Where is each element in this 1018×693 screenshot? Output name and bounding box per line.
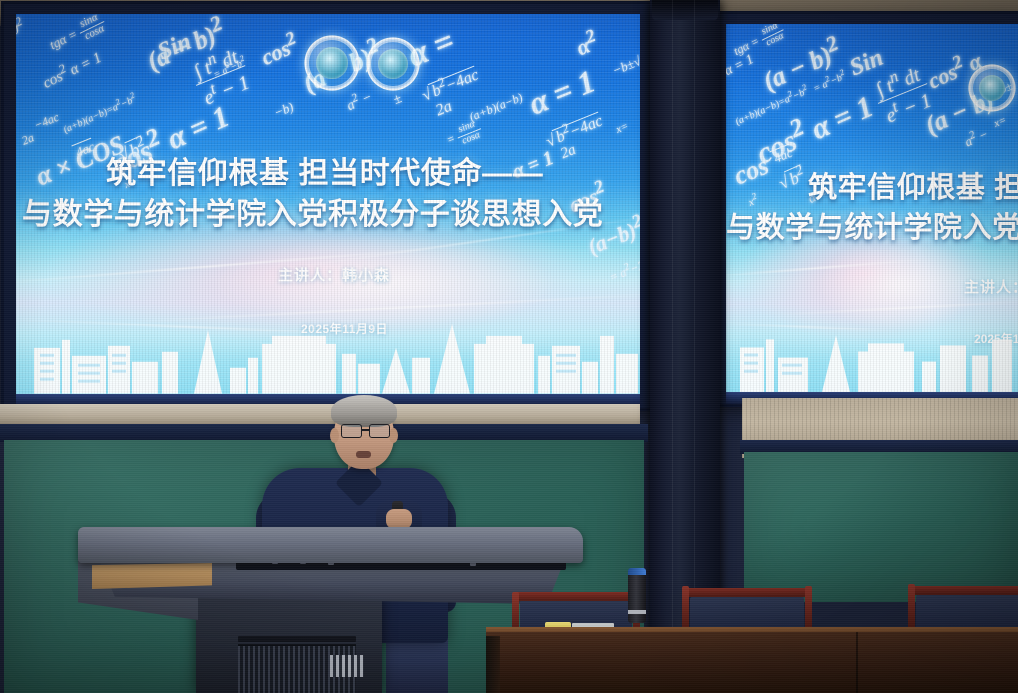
projection-screen-left[interactable]: 02 tgα = sinαcosα cos2 α = 1 (a − b)2 = … xyxy=(16,14,640,394)
lectern-wood-panel xyxy=(92,563,212,589)
screen-left-brand-label xyxy=(30,397,32,402)
chair-post xyxy=(908,584,915,632)
front-desk-side-panel xyxy=(486,636,500,693)
speaker-mouth xyxy=(356,451,371,458)
speaker-ear-right xyxy=(389,428,398,443)
speaker-hand xyxy=(386,509,412,529)
lectern-desktop xyxy=(78,527,583,563)
pillar-seam xyxy=(672,0,673,636)
front-desk xyxy=(486,632,1018,693)
speaker-ear-left xyxy=(330,428,339,443)
speaker-hair xyxy=(331,395,397,427)
lectern-keypad[interactable] xyxy=(330,655,364,677)
thermos-bottle xyxy=(628,570,646,623)
chair-top-rail xyxy=(682,588,812,597)
chair-top-rail xyxy=(512,592,640,601)
eyeglasses-lens-right-icon xyxy=(369,424,390,438)
chair-top-rail xyxy=(908,586,1018,595)
pillar-cap xyxy=(652,0,718,20)
eyeglasses-bridge-icon xyxy=(362,429,370,431)
projection-screen-right[interactable]: tgα = sinαcosα α = 1 (a − b)2 = a2−b2 (a… xyxy=(726,24,1018,392)
front-desk-seam xyxy=(856,632,858,693)
thermos-band xyxy=(628,610,646,614)
blackboard-right xyxy=(744,452,1018,602)
thermos-cap xyxy=(628,568,646,575)
eyeglasses-lens-left-icon xyxy=(341,424,362,438)
chair-backrest xyxy=(916,595,1018,631)
structural-pillar xyxy=(650,0,720,636)
lecture-hall-scene: 02 tgα = sinαcosα cos2 α = 1 (a − b)2 = … xyxy=(0,0,1018,693)
pillar-seam xyxy=(694,0,695,636)
lectern-vent-top xyxy=(238,636,356,642)
wall-acoustic-panel-left xyxy=(0,404,640,426)
